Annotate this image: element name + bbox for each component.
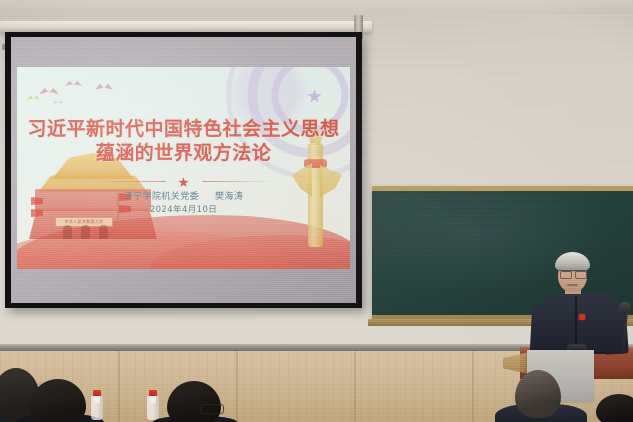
party-badge-icon bbox=[579, 314, 585, 320]
slide-title-line2: 蕴涵的世界观方法论 bbox=[17, 141, 350, 165]
divider-bar-left bbox=[94, 181, 166, 182]
speaker-mouth bbox=[567, 284, 578, 286]
water-bottle bbox=[147, 390, 159, 420]
dove-icon bbox=[65, 80, 82, 90]
speaker-person bbox=[531, 244, 627, 354]
gate-arch bbox=[99, 225, 108, 239]
red-star-icon bbox=[178, 177, 189, 188]
bottle-cap bbox=[149, 390, 157, 396]
wainscot-seam bbox=[472, 351, 474, 422]
audience-glasses-icon bbox=[200, 404, 224, 414]
slide-date: 2024年4月10日 bbox=[17, 204, 350, 217]
speaker-hair bbox=[555, 252, 590, 272]
glasses-lens-left bbox=[560, 271, 572, 279]
bottle-cap bbox=[93, 390, 101, 396]
star-divider bbox=[94, 177, 274, 187]
projection-screen: 中华人民共和国万岁 习近平新时代中国特色社会主义思想 蕴涵的世界观方法论 bbox=[5, 32, 362, 308]
slide-title-line1: 习近平新时代中国特色社会主义思想 bbox=[27, 118, 339, 140]
wainscot-seam bbox=[236, 351, 238, 422]
slide-title: 习近平新时代中国特色社会主义思想 蕴涵的世界观方法论 bbox=[17, 117, 350, 165]
presentation-slide: 中华人民共和国万岁 习近平新时代中国特色社会主义思想 蕴涵的世界观方法论 bbox=[17, 67, 350, 269]
dove-icon bbox=[53, 100, 63, 106]
glasses-lens-right bbox=[575, 271, 587, 279]
wainscot-seam bbox=[354, 351, 356, 422]
divider-bar-right bbox=[202, 181, 274, 182]
gate-arch bbox=[81, 225, 90, 239]
slide-subtitle: 济宁学院机关党委樊海涛 2024年4月10日 bbox=[17, 191, 350, 217]
microphone-icon bbox=[619, 302, 631, 313]
presenter-org: 济宁学院机关党委 bbox=[124, 192, 199, 202]
dove-icon bbox=[27, 95, 40, 103]
bottle-neck bbox=[94, 396, 100, 403]
presenter-name: 樊海涛 bbox=[215, 192, 243, 202]
gate-arch bbox=[63, 225, 72, 239]
water-bottle bbox=[91, 390, 103, 420]
dove-icon bbox=[39, 87, 59, 99]
bottle-neck bbox=[150, 396, 156, 403]
wainscot-seam bbox=[118, 351, 120, 422]
audience-head bbox=[515, 370, 561, 418]
lecture-hall-photo: 中华人民共和国万岁 习近平新时代中国特色社会主义思想 蕴涵的世界观方法论 bbox=[0, 0, 633, 422]
dove-icon bbox=[95, 83, 113, 94]
